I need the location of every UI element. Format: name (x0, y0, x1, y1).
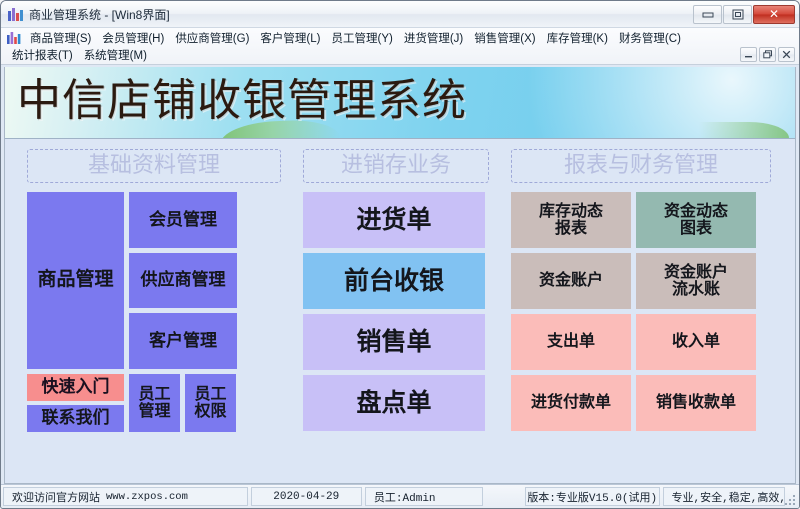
tile-fund-account[interactable]: 资金账户 (511, 253, 631, 309)
status-bar: 欢迎访问官方网站 www.zxpos.com 2020-04-29 员工:Adm… (1, 484, 799, 508)
section-header-reports: 报表与财务管理 (511, 149, 771, 183)
menu-item-goods[interactable]: 商品管理(S) (25, 29, 96, 47)
section-header-basic: 基础资料管理 (27, 149, 281, 183)
home-child-window: 中信店铺收银管理系统 基础资料管理 商品管理 会员管理 供应商管理 客户管理 (4, 67, 796, 484)
tile-board: 基础资料管理 商品管理 会员管理 供应商管理 客户管理 快速入门 (5, 139, 795, 483)
menu-item-member[interactable]: 会员管理(H) (97, 29, 169, 47)
section-basic-data: 基础资料管理 商品管理 会员管理 供应商管理 客户管理 快速入门 (27, 149, 281, 432)
line-1: 库存动态 (539, 203, 603, 220)
mdi-minimize-button[interactable] (740, 47, 757, 62)
line-1: 资金账户 (664, 264, 728, 281)
staff-line-2: 管理 (138, 403, 170, 420)
tile-front-desk-cashier[interactable]: 前台收银 (303, 253, 485, 309)
staff-line-1: 员工 (138, 386, 170, 403)
title-bar: 商业管理系统 - [Win8界面] ✕ (1, 1, 799, 28)
tile-fund-account-journal-label: 资金账户 流水账 (664, 264, 728, 299)
menu-item-finance[interactable]: 财务管理(C) (614, 29, 686, 47)
status-user: 员工:Admin (365, 487, 483, 506)
status-version: 版本:专业版V15.0(试用) (525, 487, 660, 506)
header-banner: 中信店铺收银管理系统 (5, 67, 795, 139)
line-2: 图表 (680, 220, 712, 237)
tile-stocktaking-order[interactable]: 盘点单 (303, 375, 485, 431)
perm-line-2: 权限 (194, 403, 226, 420)
tile-expense-order[interactable]: 支出单 (511, 314, 631, 370)
status-slogan: 专业,安全,稳定,高效,简 (663, 487, 785, 506)
tile-staff-management-label: 员工 管理 (138, 386, 170, 421)
menu-item-staff[interactable]: 员工管理(Y) (326, 29, 397, 47)
tile-stock-dynamic-report-label: 库存动态 报表 (539, 203, 603, 238)
basic-tile-grid: 商品管理 会员管理 供应商管理 客户管理 (27, 192, 281, 369)
bar-chart-icon (7, 32, 21, 44)
tile-staff-permission-label: 员工 权限 (194, 386, 226, 421)
basic-right-tiles: 会员管理 供应商管理 客户管理 (129, 192, 237, 369)
menu-item-supplier[interactable]: 供应商管理(G) (170, 29, 254, 47)
close-button[interactable]: ✕ (753, 5, 795, 24)
tile-customer-management[interactable]: 客户管理 (129, 313, 237, 369)
status-gap (486, 487, 522, 506)
application-window: 商业管理系统 - [Win8界面] ✕ (0, 0, 800, 509)
mdi-window-controls (740, 47, 795, 62)
mdi-restore-button[interactable] (759, 47, 776, 62)
section-inventory-business: 进销存业务 进货单 前台收银 销售单 盘点单 (303, 149, 489, 432)
minimize-icon (744, 51, 753, 59)
maximize-icon (732, 9, 744, 20)
tile-supplier-management[interactable]: 供应商管理 (129, 253, 237, 309)
resize-grip[interactable] (784, 494, 797, 507)
tile-purchase-payment-order[interactable]: 进货付款单 (511, 375, 631, 431)
reports-tile-grid: 库存动态 报表 资金动态 图表 资金账户 (511, 192, 771, 431)
tile-purchase-order[interactable]: 进货单 (303, 192, 485, 248)
menu-item-purchase[interactable]: 进货管理(J) (399, 29, 468, 47)
window-controls: ✕ (693, 5, 797, 24)
tile-income-order[interactable]: 收入单 (636, 314, 756, 370)
tile-sales-order[interactable]: 销售单 (303, 314, 485, 370)
line-2: 流水账 (672, 281, 720, 298)
close-icon (782, 50, 791, 59)
close-icon: ✕ (769, 8, 779, 20)
mdi-client-area: 中信店铺收银管理系统 基础资料管理 商品管理 会员管理 供应商管理 客户管理 (1, 65, 799, 484)
line-1: 资金动态 (664, 203, 728, 220)
menu-item-statistics[interactable]: 统计报表(T) (7, 46, 78, 64)
perm-line-1: 员工 (194, 386, 226, 403)
menu-row-secondary: 统计报表(T) 系统管理(M) (1, 47, 799, 63)
status-website-url: www.zxpos.com (106, 491, 188, 503)
tile-stock-dynamic-report[interactable]: 库存动态 报表 (511, 192, 631, 248)
status-website: 欢迎访问官方网站 www.zxpos.com (3, 487, 248, 506)
mdi-close-button[interactable] (778, 47, 795, 62)
menu-item-system[interactable]: 系统管理(M) (79, 46, 152, 64)
menu-bar: 商品管理(S) 会员管理(H) 供应商管理(G) 客户管理(L) 员工管理(Y)… (1, 28, 799, 65)
banner-title: 中信店铺收银管理系统 (17, 70, 467, 132)
column-spacer-2 (489, 149, 511, 432)
basic-bottom-tiles: 快速入门 联系我们 员工 管理 员工 (27, 374, 281, 432)
tile-goods-management[interactable]: 商品管理 (27, 192, 124, 369)
maximize-button[interactable] (723, 5, 752, 24)
tile-member-management[interactable]: 会员管理 (129, 192, 237, 248)
status-date: 2020-04-29 (251, 487, 362, 506)
menu-item-sales[interactable]: 销售管理(X) (469, 29, 540, 47)
tile-quick-start[interactable]: 快速入门 (27, 374, 124, 401)
bar-chart-icon (8, 7, 23, 21)
restore-icon (763, 50, 773, 59)
section-header-inventory: 进销存业务 (303, 149, 489, 183)
tile-fund-dynamic-chart[interactable]: 资金动态 图表 (636, 192, 756, 248)
tile-fund-dynamic-chart-label: 资金动态 图表 (664, 203, 728, 238)
minimize-button[interactable] (693, 5, 722, 24)
line-2: 报表 (555, 220, 587, 237)
menu-row-primary: 商品管理(S) 会员管理(H) 供应商管理(G) 客户管理(L) 员工管理(Y)… (1, 30, 799, 46)
tile-columns: 基础资料管理 商品管理 会员管理 供应商管理 客户管理 快速入门 (5, 149, 795, 432)
status-welcome-text: 欢迎访问官方网站 (12, 489, 100, 505)
minimize-icon (702, 10, 714, 19)
inventory-tile-list: 进货单 前台收银 销售单 盘点单 (303, 192, 489, 431)
menu-item-customer[interactable]: 客户管理(L) (255, 29, 325, 47)
tile-staff-permission[interactable]: 员工 权限 (185, 374, 236, 432)
window-title: 商业管理系统 - [Win8界面] (29, 6, 693, 23)
tile-sales-receipt-order[interactable]: 销售收款单 (636, 375, 756, 431)
menu-item-stock[interactable]: 库存管理(K) (542, 29, 613, 47)
tile-staff-management[interactable]: 员工 管理 (129, 374, 180, 432)
column-spacer-1 (281, 149, 303, 432)
leaf-decoration-right-icon (699, 122, 789, 138)
section-reports-finance: 报表与财务管理 库存动态 报表 资金动态 (511, 149, 771, 432)
basic-bottom-left: 快速入门 联系我们 (27, 374, 124, 432)
tile-fund-account-journal[interactable]: 资金账户 流水账 (636, 253, 756, 309)
tile-contact-us[interactable]: 联系我们 (27, 405, 124, 432)
